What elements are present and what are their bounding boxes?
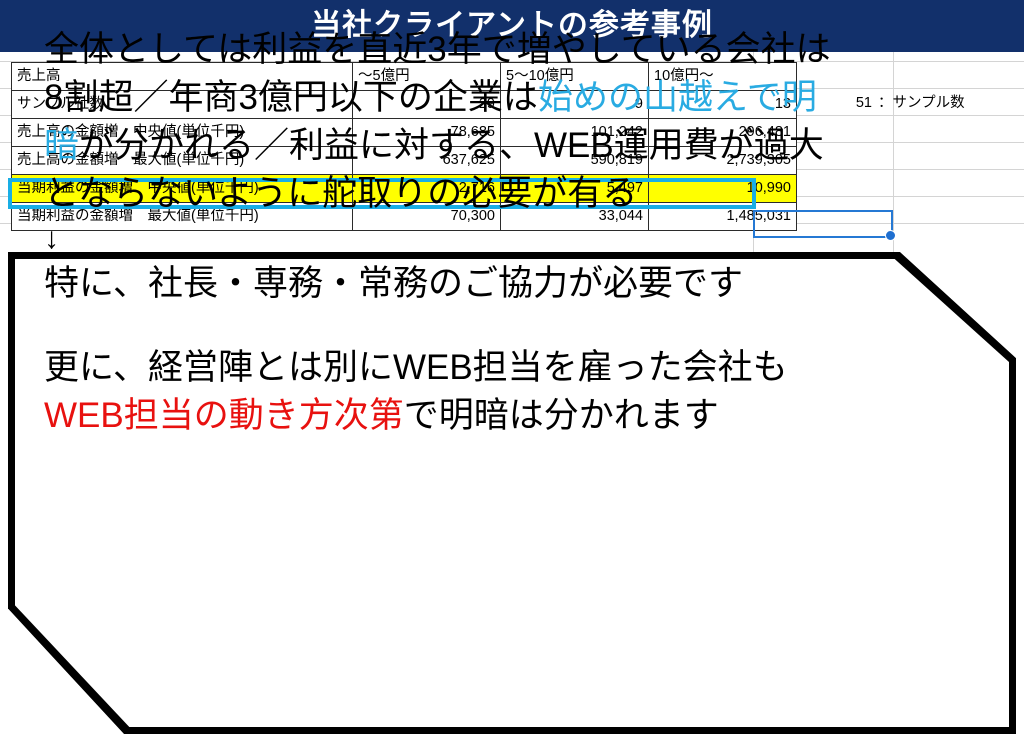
callout-line-5: 特に、社長・専務・常務のご協力が必要です — [44, 260, 984, 308]
callout-line-2: 8割超／年商3億円以下の企業は始めの山越えで明 — [44, 74, 984, 122]
callout-line-6: 更に、経営陣とは別にWEB担当を雇った会社も — [44, 344, 984, 392]
callout-line-1: 全体としては利益を直近3年で増やしている会社は — [44, 26, 984, 74]
callout-line-4: とならないように舵取りの必要が有る — [44, 170, 984, 218]
callout-line-2-highlight: 始めの山越えで明 — [538, 78, 817, 117]
callout-spacer — [44, 308, 984, 342]
callout-arrow: ↓ — [44, 218, 984, 260]
callout-text-block: 全体としては利益を直近3年で増やしている会社は 8割超／年商3億円以下の企業は始… — [44, 26, 984, 440]
callout-line-7-highlight: WEB担当の動き方次第 — [44, 396, 404, 435]
callout-line-1-text: 全体としては利益を直近3年で増やしている会社は — [44, 30, 831, 69]
callout-line-7-text: で明暗は分かれます — [404, 396, 719, 435]
callout-line-3: 暗が分かれる／利益に対する、WEB運用費が過大 — [44, 122, 984, 170]
callout-line-2-text: 8割超／年商3億円以下の企業は — [44, 78, 538, 117]
callout-line-3-text: が分かれる／利益に対する、WEB運用費が過大 — [79, 126, 824, 165]
callout-line-7: WEB担当の動き方次第で明暗は分かれます — [44, 392, 984, 440]
callout-line-4-text: とならないように舵取りの必要が有る — [44, 174, 637, 213]
callout-line-3-highlight: 暗 — [44, 126, 79, 165]
